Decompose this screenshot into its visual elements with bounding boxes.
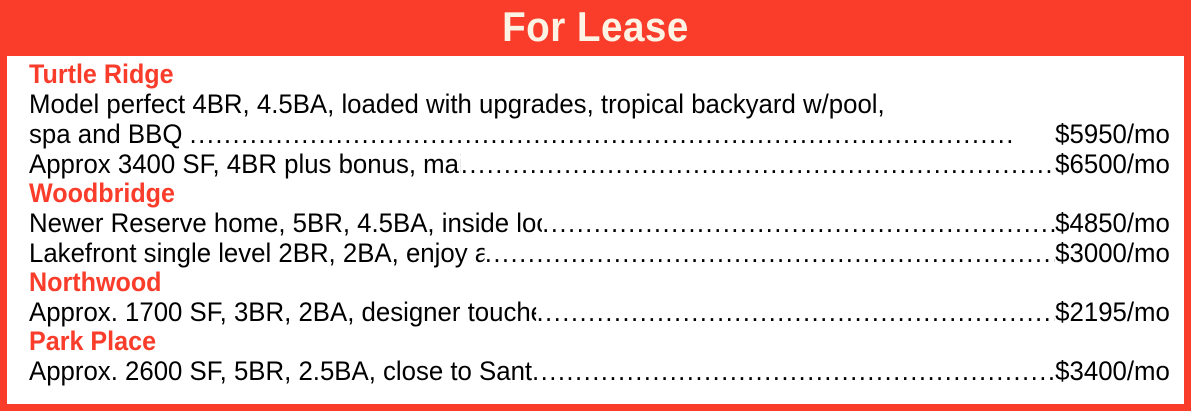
- for-lease-ad: For Lease Turtle Ridge Model perfect 4BR…: [0, 0, 1191, 411]
- section-heading-woodbridge: Woodbridge: [29, 179, 1090, 208]
- list-item: Approx. 1700 SF, 3BR, 2BA, designer touc…: [29, 297, 1170, 327]
- list-item: Newer Reserve home, 5BR, 4.5BA, inside l…: [29, 208, 1170, 238]
- listing-description: Lakefront single level 2BR, 2BA, enjoy a…: [29, 238, 485, 268]
- listings-container: Turtle Ridge Model perfect 4BR, 4.5BA, l…: [7, 58, 1184, 386]
- listing-price: $3000/mo: [1054, 238, 1170, 268]
- ad-body-frame: Turtle Ridge Model perfect 4BR, 4.5BA, l…: [0, 56, 1191, 411]
- listing-price: $2195/mo: [1054, 297, 1170, 327]
- listing-description-line1: Model perfect 4BR, 4.5BA, loaded with up…: [29, 89, 1170, 119]
- list-item: Approx 3400 SF, 4BR plus bonus, main flo…: [29, 149, 1170, 179]
- listing-description: Newer Reserve home, 5BR, 4.5BA, inside l…: [29, 208, 542, 238]
- listing-price: $4850/mo: [1054, 208, 1170, 238]
- listing-price: $6500/mo: [1054, 149, 1170, 179]
- section-heading-park-place: Park Place: [29, 327, 1090, 356]
- listing-price: $5950/mo: [1054, 119, 1170, 149]
- listing-description-line2: spa and BBQ: [29, 119, 190, 149]
- dot-leader: ........................................…: [542, 208, 1054, 238]
- list-item: Lakefront single level 2BR, 2BA, enjoy a…: [29, 238, 1170, 268]
- dot-leader: ........................................…: [461, 149, 1054, 179]
- section-heading-northwood: Northwood: [29, 268, 1090, 297]
- dot-leader: ........................................…: [532, 356, 1054, 386]
- dot-leader: ........................................…: [190, 119, 1055, 149]
- listing-description: Approx 3400 SF, 4BR plus bonus, main flo…: [29, 149, 461, 179]
- page-title: For Lease: [502, 6, 689, 51]
- section-heading-turtle-ridge: Turtle Ridge: [29, 60, 1090, 89]
- ad-header-bar: For Lease: [0, 0, 1191, 56]
- list-item: Model perfect 4BR, 4.5BA, loaded with up…: [29, 89, 1170, 149]
- listing-description: Approx. 1700 SF, 3BR, 2BA, designer touc…: [29, 297, 536, 327]
- list-item: Approx. 2600 SF, 5BR, 2.5BA, close to Sa…: [29, 356, 1170, 386]
- dot-leader: ........................................…: [536, 297, 1054, 327]
- listing-price: $3400/mo: [1054, 356, 1170, 386]
- dot-leader: ........................................…: [485, 238, 1054, 268]
- listing-description: Approx. 2600 SF, 5BR, 2.5BA, close to Sa…: [29, 356, 532, 386]
